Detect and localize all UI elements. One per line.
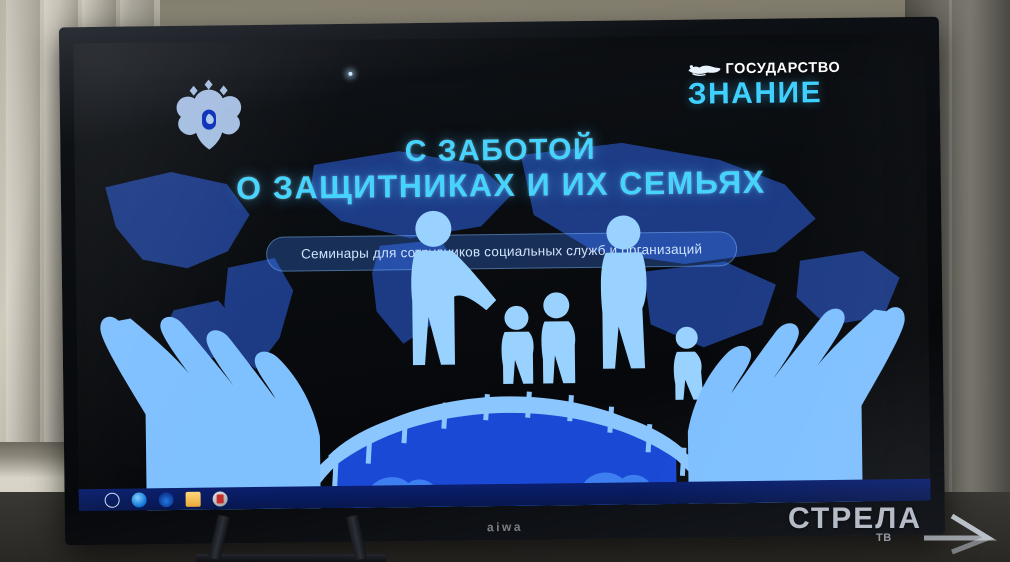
cortana-circle-icon[interactable] <box>105 492 120 507</box>
tv-bezel: ГОСУДАРСТВО ЗНАНИЕ С ЗАБОТОЙ О ЗАЩИТНИКА… <box>59 17 945 546</box>
edge-browser-icon[interactable] <box>159 492 174 507</box>
child-figure-2 <box>541 292 576 383</box>
browser-compass-icon[interactable] <box>132 492 147 507</box>
child-figure-1 <box>501 306 534 384</box>
file-explorer-icon[interactable] <box>186 491 201 506</box>
adult-woman-figure <box>600 215 648 369</box>
screen-light-artifact <box>348 72 352 76</box>
wall-corner-edge <box>949 0 952 562</box>
tv-screen[interactable]: ГОСУДАРСТВО ЗНАНИЕ С ЗАБОТОЙ О ЗАЩИТНИКА… <box>73 33 931 511</box>
watermark-sub: ТВ <box>876 532 892 544</box>
media-app-icon[interactable] <box>213 491 228 506</box>
child-figure-3 <box>673 327 703 400</box>
znanie-logo: ГОСУДАРСТВО ЗНАНИЕ <box>687 59 878 109</box>
chevron-right-arrow-icon <box>918 512 1004 556</box>
logo-top-word: ГОСУДАРСТВО <box>725 60 840 77</box>
strela-watermark: СТРЕЛА ТВ <box>788 500 1008 558</box>
russia-map-icon <box>687 61 721 77</box>
blind-slat <box>6 0 40 470</box>
watermark-text: СТРЕЛА <box>788 502 922 536</box>
logo-main-word: ЗНАНИЕ <box>688 77 878 109</box>
family-figures <box>410 208 703 404</box>
adult-man-figure <box>410 210 497 365</box>
television: ГОСУДАРСТВО ЗНАНИЕ С ЗАБОТОЙ О ЗАЩИТНИКА… <box>59 17 945 546</box>
presentation-slide: ГОСУДАРСТВО ЗНАНИЕ С ЗАБОТОЙ О ЗАЩИТНИКА… <box>73 33 931 511</box>
left-hand <box>100 314 321 511</box>
care-illustration <box>75 183 931 511</box>
